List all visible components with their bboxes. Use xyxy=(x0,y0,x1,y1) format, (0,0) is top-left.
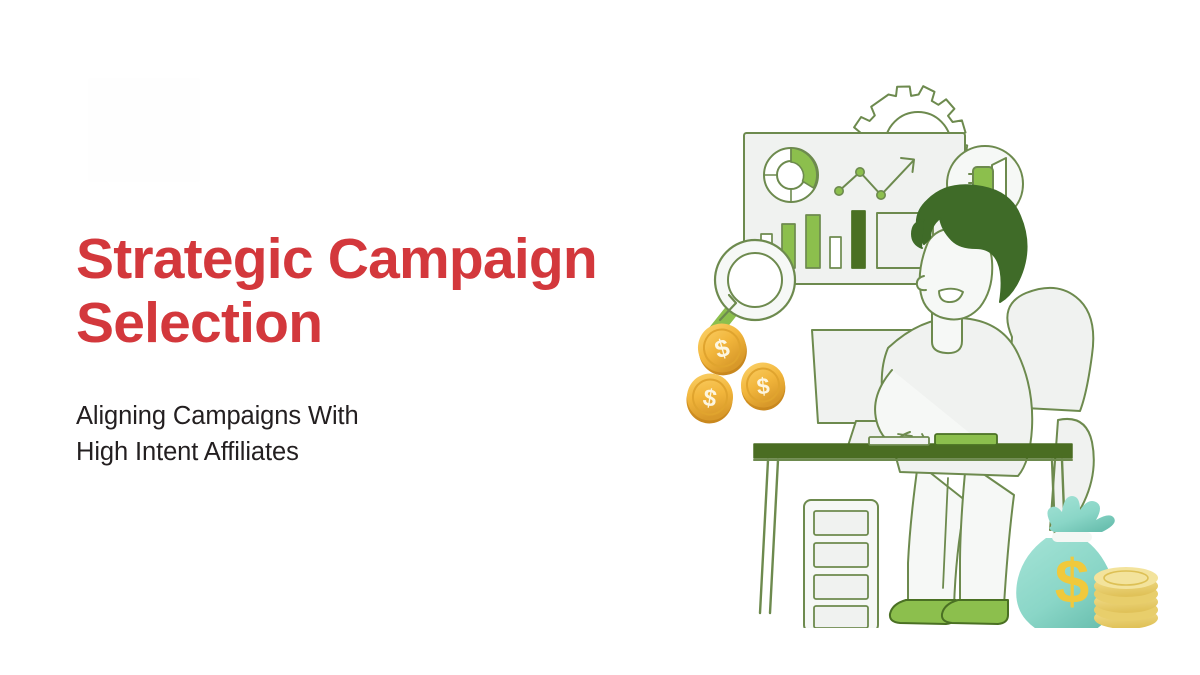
svg-text:$: $ xyxy=(1055,548,1089,617)
text-block: Strategic Campaign Selection Aligning Ca… xyxy=(76,228,676,470)
magnifier-icon xyxy=(713,240,795,334)
slide-canvas: Strategic Campaign Selection Aligning Ca… xyxy=(0,0,1200,675)
page-title: Strategic Campaign Selection xyxy=(76,228,676,356)
donut-chart xyxy=(764,148,818,202)
marketing-analytics-illustration: $ $ $ $ xyxy=(660,48,1180,628)
gold-coins: $ $ $ xyxy=(683,318,788,427)
background-watermark xyxy=(88,78,200,182)
page-subtitle: Aligning Campaigns With High Intent Affi… xyxy=(76,398,676,470)
coin-stack xyxy=(1094,567,1158,628)
drawer-cabinet xyxy=(804,500,878,628)
